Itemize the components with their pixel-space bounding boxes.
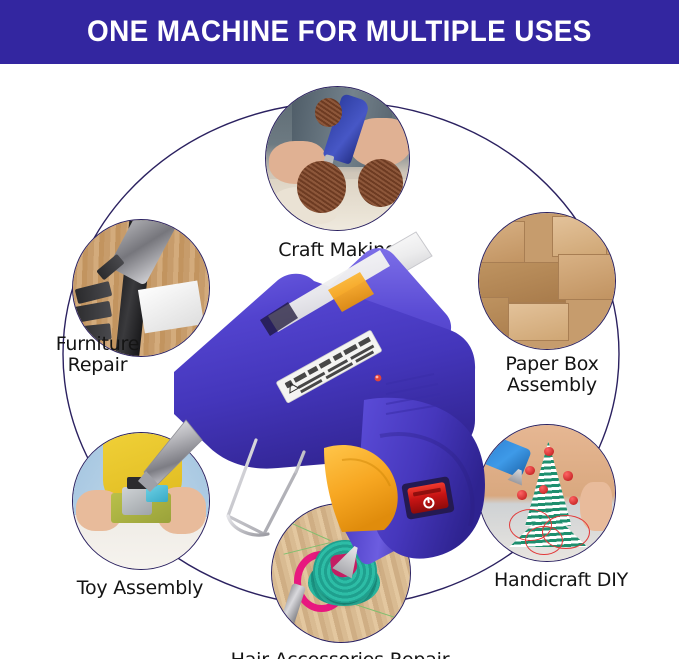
infographic-root: ONE MACHINE FOR MULTIPLE USES xyxy=(0,0,679,659)
glue-gun-illustration xyxy=(128,224,548,574)
page-title: ONE MACHINE FOR MULTIPLE USES xyxy=(87,15,592,49)
product-glue-gun xyxy=(128,224,548,574)
gun-nozzle-icon xyxy=(138,420,202,492)
use-label-toy-assembly: Toy Assembly xyxy=(20,578,260,599)
diagram-canvas: Craft Making Furniture Repair xyxy=(0,64,679,659)
indicator-led-icon xyxy=(375,375,382,382)
craft-making-image xyxy=(265,86,410,231)
use-label-hair-accessories-repair: Hair Accessories Repair xyxy=(170,650,510,659)
header-banner: ONE MACHINE FOR MULTIPLE USES xyxy=(0,0,679,64)
